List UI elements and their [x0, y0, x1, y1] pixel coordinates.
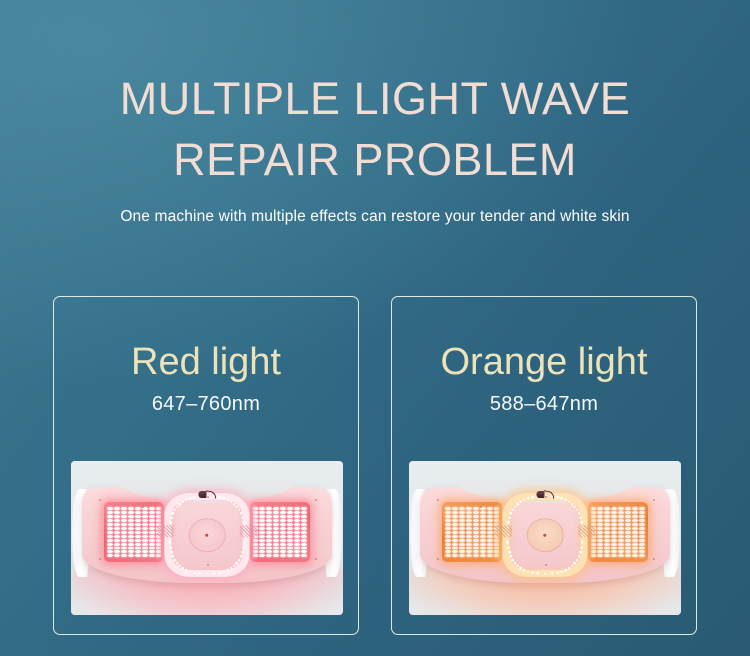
led-dot: [494, 515, 500, 518]
led-dot: [480, 519, 486, 522]
ring-led-dot: [579, 551, 582, 554]
led-dot: [135, 507, 141, 510]
led-dot: [156, 515, 162, 518]
led-dot: [294, 519, 300, 522]
led-dot: [591, 547, 597, 550]
led-dot: [149, 507, 155, 510]
led-dot: [280, 519, 286, 522]
ring-led-dot: [181, 500, 184, 503]
card-wavelength-range: 588–647nm: [490, 392, 598, 416]
led-dot: [459, 547, 465, 550]
ring-led-dot: [170, 551, 173, 554]
ring-led-dot: [556, 496, 559, 499]
led-dot: [611, 527, 617, 530]
led-dot: [259, 519, 265, 522]
led-dot: [287, 511, 293, 514]
ring-led-dot: [178, 503, 181, 506]
led-dot: [618, 547, 624, 550]
led-dot: [301, 507, 307, 510]
led-dot: [459, 543, 465, 546]
led-dot: [142, 519, 148, 522]
ring-led-dot: [579, 516, 582, 519]
led-dot: [466, 531, 472, 534]
led-dot: [632, 539, 638, 542]
led-dot: [473, 523, 479, 526]
ring-led-dot: [531, 496, 534, 499]
led-dot: [149, 527, 155, 530]
led-dot: [287, 543, 293, 546]
ring-led-dot: [574, 505, 577, 508]
led-dot: [452, 535, 458, 538]
led-dot: [487, 547, 493, 550]
led-dot: [639, 539, 645, 542]
led-dot: [301, 547, 307, 550]
ring-led-dot: [519, 567, 522, 570]
led-dot: [259, 511, 265, 514]
ring-led-dot: [561, 570, 564, 573]
led-dot: [294, 515, 300, 518]
led-dot: [604, 539, 610, 542]
led-dot: [466, 515, 472, 518]
led-dot: [156, 554, 162, 557]
led-dot: [294, 531, 300, 534]
led-dot: [135, 550, 141, 553]
ring-led-dot: [571, 565, 574, 568]
ring-led-dot: [568, 567, 571, 570]
led-dot: [466, 539, 472, 542]
ring-led-dot: [580, 521, 583, 524]
led-dot: [266, 519, 272, 522]
led-dot: [604, 554, 610, 557]
led-dot: [625, 531, 631, 534]
led-dot: [135, 539, 141, 542]
led-dot: [294, 550, 300, 553]
led-dot: [480, 527, 486, 530]
led-dot: [597, 511, 603, 514]
card-red-light[interactable]: Red light 647–760nm: [53, 296, 359, 635]
led-dot: [604, 547, 610, 550]
ring-led-dot: [511, 559, 514, 562]
led-dot: [121, 535, 127, 538]
device-screw: [207, 564, 209, 566]
led-dot: [625, 519, 631, 522]
led-dot: [114, 543, 120, 546]
ring-led-dot: [169, 546, 172, 549]
led-dot: [259, 523, 265, 526]
led-dot: [466, 547, 472, 550]
ring-led-dot: [510, 555, 513, 558]
led-dot: [632, 543, 638, 546]
ring-led-dot: [514, 505, 517, 508]
led-dot: [114, 535, 120, 538]
led-dot: [591, 554, 597, 557]
led-dot: [632, 535, 638, 538]
led-dot: [273, 535, 279, 538]
led-dot: [156, 547, 162, 550]
led-dot: [107, 547, 113, 550]
led-dot: [604, 543, 610, 546]
led-dot: [452, 554, 458, 557]
led-dot: [142, 543, 148, 546]
led-dot: [253, 511, 259, 514]
led-dot: [266, 543, 272, 546]
led-dot: [128, 547, 134, 550]
led-dot: [142, 527, 148, 530]
led-dot: [273, 507, 279, 510]
ring-led-dot: [516, 565, 519, 568]
led-dot: [466, 527, 472, 530]
led-dot: [121, 543, 127, 546]
led-dot: [107, 539, 113, 542]
ring-led-dot: [240, 555, 243, 558]
led-dot: [459, 535, 465, 538]
card-orange-light[interactable]: Orange light 588–647nm: [391, 296, 697, 635]
led-dot: [142, 550, 148, 553]
led-dot: [128, 531, 134, 534]
led-dot: [452, 539, 458, 542]
led-dot: [107, 515, 113, 518]
led-dot: [273, 531, 279, 534]
led-dot: [625, 523, 631, 526]
led-dot: [597, 507, 603, 510]
led-dot: [632, 515, 638, 518]
led-dot: [107, 543, 113, 546]
ring-led-dot: [514, 562, 517, 565]
mesh-vent-right: [240, 525, 258, 536]
ring-led-dot: [172, 512, 175, 515]
led-dot: [459, 519, 465, 522]
page-subtitle: One machine with multiple effects can re…: [0, 207, 750, 227]
ring-led-dot: [561, 497, 564, 500]
led-dot: [618, 531, 624, 534]
led-dot: [294, 554, 300, 557]
led-dot: [445, 547, 451, 550]
ring-led-dot: [236, 505, 239, 508]
led-dot: [473, 550, 479, 553]
light-mode-cards: Red light 647–760nm: [53, 296, 697, 635]
led-dot: [280, 539, 286, 542]
led-dot: [135, 554, 141, 557]
ring-led-dot: [511, 509, 514, 512]
ring-led-dot: [218, 496, 221, 499]
device-screw: [545, 496, 547, 498]
ring-led-dot: [507, 521, 510, 524]
led-dot: [107, 519, 113, 522]
led-dot: [253, 515, 259, 518]
led-dot: [287, 527, 293, 530]
led-dot: [142, 523, 148, 526]
led-dot: [487, 539, 493, 542]
led-dot: [459, 523, 465, 526]
led-dot: [149, 554, 155, 557]
led-dot: [597, 550, 603, 553]
ring-led-dot: [574, 562, 577, 565]
mesh-vent-left: [495, 525, 513, 536]
led-dot: [121, 539, 127, 542]
product-photo-red: [71, 461, 343, 615]
led-dot: [452, 511, 458, 514]
ring-led-dot: [233, 565, 236, 568]
led-dot: [452, 515, 458, 518]
led-dot: [597, 515, 603, 518]
led-dot: [473, 531, 479, 534]
led-dot: [452, 527, 458, 530]
ring-led-dot: [551, 572, 554, 575]
led-dot: [632, 523, 638, 526]
led-dot: [128, 543, 134, 546]
led-dot: [591, 507, 597, 510]
led-dot: [625, 547, 631, 550]
led-dot: [618, 511, 624, 514]
led-dot: [625, 507, 631, 510]
ring-led-dot: [238, 559, 241, 562]
led-dot: [480, 535, 486, 538]
led-dot: [611, 511, 617, 514]
led-dot: [459, 539, 465, 542]
led-dot: [259, 535, 265, 538]
led-dot: [611, 543, 617, 546]
led-dot: [253, 539, 259, 542]
led-dot: [294, 547, 300, 550]
ring-led-dot: [213, 572, 216, 575]
led-dot: [149, 543, 155, 546]
led-dot: [591, 519, 597, 522]
led-dot: [487, 527, 493, 530]
led-dot: [459, 527, 465, 530]
led-dot: [604, 519, 610, 522]
led-dot: [597, 531, 603, 534]
ring-led-dot: [507, 546, 510, 549]
led-dot: [266, 535, 272, 538]
ring-led-dot: [516, 503, 519, 506]
led-dot: [259, 527, 265, 530]
led-dot: [591, 515, 597, 518]
led-dot: [121, 519, 127, 522]
led-dot: [273, 519, 279, 522]
led-dot: [266, 554, 272, 557]
led-dot: [253, 554, 259, 557]
led-dot: [473, 511, 479, 514]
led-dot: [294, 527, 300, 530]
led-dot: [597, 535, 603, 538]
led-dot: [142, 531, 148, 534]
led-dot: [487, 519, 493, 522]
led-dot: [639, 550, 645, 553]
led-dot: [618, 523, 624, 526]
led-dot: [128, 554, 134, 557]
led-dot: [149, 547, 155, 550]
led-dot: [259, 507, 265, 510]
ring-led-dot: [578, 555, 581, 558]
led-dot: [294, 539, 300, 542]
led-dot: [128, 507, 134, 510]
led-dot: [107, 535, 113, 538]
center-hub: [188, 518, 225, 552]
led-dot: [487, 507, 493, 510]
led-pad-right-grid: [591, 507, 645, 558]
led-dot: [611, 523, 617, 526]
led-dot: [273, 547, 279, 550]
led-dot: [301, 515, 307, 518]
led-dot: [445, 511, 451, 514]
led-dot: [114, 515, 120, 518]
ring-led-dot: [519, 500, 522, 503]
led-dot: [597, 539, 603, 542]
led-dot: [287, 535, 293, 538]
led-dot: [287, 519, 293, 522]
led-dot: [121, 523, 127, 526]
led-dot: [487, 531, 493, 534]
led-dot: [604, 511, 610, 514]
led-dot: [466, 507, 472, 510]
led-dot: [114, 547, 120, 550]
led-device: [420, 487, 670, 582]
led-dot: [280, 550, 286, 553]
led-dot: [480, 539, 486, 542]
led-dot: [618, 527, 624, 530]
led-dot: [604, 531, 610, 534]
led-dot: [301, 554, 307, 557]
led-dot: [121, 507, 127, 510]
led-device: [82, 487, 332, 582]
ring-led-dot: [531, 571, 534, 574]
led-dot: [128, 527, 134, 530]
led-dot: [445, 550, 451, 553]
led-dot: [618, 535, 624, 538]
led-dot: [287, 515, 293, 518]
led-dot: [128, 523, 134, 526]
led-dot: [473, 554, 479, 557]
led-dot: [301, 550, 307, 553]
ring-led-dot: [226, 569, 229, 572]
page-title-line-1: MULTIPLE LIGHT WAVE: [0, 68, 750, 129]
led-dot: [128, 519, 134, 522]
led-dot: [611, 550, 617, 553]
led-dot: [259, 543, 265, 546]
led-dot: [494, 511, 500, 514]
ring-led-dot: [243, 541, 246, 544]
ring-led-dot: [523, 498, 526, 501]
ring-led-dot: [578, 512, 581, 515]
ring-led-dot: [173, 559, 176, 562]
led-dot: [639, 507, 645, 510]
led-dot: [473, 547, 479, 550]
led-dot: [459, 550, 465, 553]
led-dot: [459, 515, 465, 518]
ring-led-dot: [581, 541, 584, 544]
led-dot: [494, 554, 500, 557]
led-dot: [294, 543, 300, 546]
ring-led-dot: [576, 509, 579, 512]
ring-led-dot: [523, 569, 526, 572]
ring-led-dot: [181, 567, 184, 570]
led-dot: [121, 550, 127, 553]
led-dot: [294, 535, 300, 538]
led-dot: [301, 539, 307, 542]
led-dot: [625, 511, 631, 514]
led-dot: [639, 543, 645, 546]
led-dot: [287, 550, 293, 553]
ring-led-dot: [564, 498, 567, 501]
led-dot: [618, 554, 624, 557]
led-dot: [452, 543, 458, 546]
led-dot: [114, 539, 120, 542]
led-dot: [487, 543, 493, 546]
product-photo-orange: [409, 461, 681, 615]
led-dot: [494, 547, 500, 550]
led-dot: [142, 515, 148, 518]
led-pad-right: [250, 502, 310, 561]
led-dot: [487, 511, 493, 514]
led-dot: [494, 543, 500, 546]
led-dot: [466, 519, 472, 522]
device-screw: [207, 496, 209, 498]
led-dot: [591, 543, 597, 546]
led-dot: [466, 543, 472, 546]
led-dot: [287, 531, 293, 534]
led-dot: [452, 550, 458, 553]
led-dot: [273, 515, 279, 518]
led-dot: [107, 531, 113, 534]
ring-led-dot: [510, 512, 513, 515]
led-dot: [459, 507, 465, 510]
led-dot: [445, 507, 451, 510]
led-pad-right-grid: [253, 507, 307, 558]
led-dot: [294, 507, 300, 510]
led-dot: [480, 543, 486, 546]
led-dot: [597, 523, 603, 526]
led-dot: [114, 507, 120, 510]
led-dot: [473, 535, 479, 538]
led-dot: [107, 523, 113, 526]
led-dot: [266, 527, 272, 530]
led-dot: [611, 539, 617, 542]
led-dot: [604, 523, 610, 526]
led-dot: [121, 531, 127, 534]
led-dot: [611, 531, 617, 534]
led-dot: [128, 511, 134, 514]
led-dot: [618, 550, 624, 553]
ring-led-dot: [170, 516, 173, 519]
led-dot: [301, 535, 307, 538]
led-dot: [280, 515, 286, 518]
page-title-line-2: REPAIR PROBLEM: [0, 129, 750, 190]
ring-led-dot: [242, 521, 245, 524]
ring-led-dot: [172, 555, 175, 558]
led-dot: [156, 511, 162, 514]
led-dot: [611, 515, 617, 518]
led-dot: [280, 511, 286, 514]
led-dot: [466, 554, 472, 557]
led-dot: [156, 539, 162, 542]
card-title: Red light: [131, 341, 281, 383]
ring-led-dot: [506, 541, 509, 544]
led-dot: [604, 535, 610, 538]
ring-led-dot: [240, 512, 243, 515]
led-dot: [597, 554, 603, 557]
led-dot: [625, 539, 631, 542]
ring-led-dot: [176, 505, 179, 508]
ring-led-dot: [173, 509, 176, 512]
led-dot: [259, 550, 265, 553]
led-dot: [135, 519, 141, 522]
led-dot: [135, 523, 141, 526]
led-dot: [259, 554, 265, 557]
led-dot: [445, 539, 451, 542]
led-dot: [128, 535, 134, 538]
led-dot: [611, 535, 617, 538]
led-dot: [445, 523, 451, 526]
